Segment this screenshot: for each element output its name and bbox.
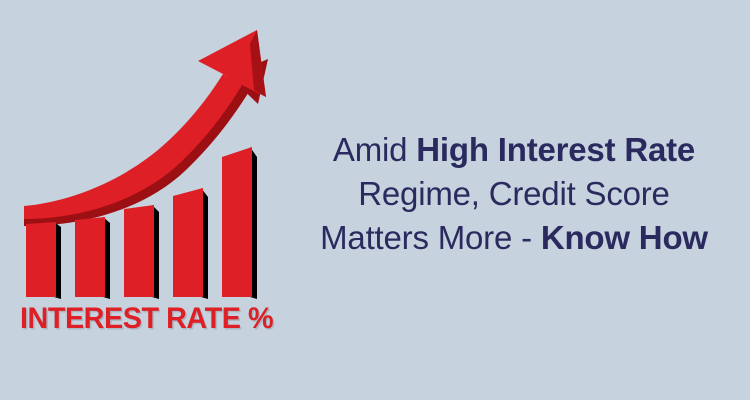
headline-line-3-bold: Know How	[541, 219, 708, 256]
promo-banner: INTEREST RATE % Amid High Interest Rate …	[0, 0, 750, 400]
headline-line-2-plain: Regime, Credit Score	[358, 175, 669, 212]
headline-line-2: Regime, Credit Score	[288, 172, 740, 216]
bar-3	[124, 205, 159, 299]
headline-block: Amid High Interest Rate Regime, Credit S…	[288, 128, 740, 260]
headline-line-3-plain: Matters More -	[320, 219, 541, 256]
headline-line-3: Matters More - Know How	[288, 216, 740, 260]
bar-5	[222, 147, 257, 299]
headline-line-1: Amid High Interest Rate	[288, 128, 740, 172]
headline-line-1-plain: Amid	[333, 131, 416, 168]
bar-1	[26, 222, 61, 299]
interest-rate-caption: INTEREST RATE %	[20, 303, 272, 335]
headline-line-1-bold: High Interest Rate	[416, 131, 695, 168]
rising-bar-chart-graphic	[0, 0, 300, 400]
chart-illustration-svg	[0, 0, 300, 400]
bar-4	[173, 188, 208, 299]
bar-2	[75, 217, 110, 299]
